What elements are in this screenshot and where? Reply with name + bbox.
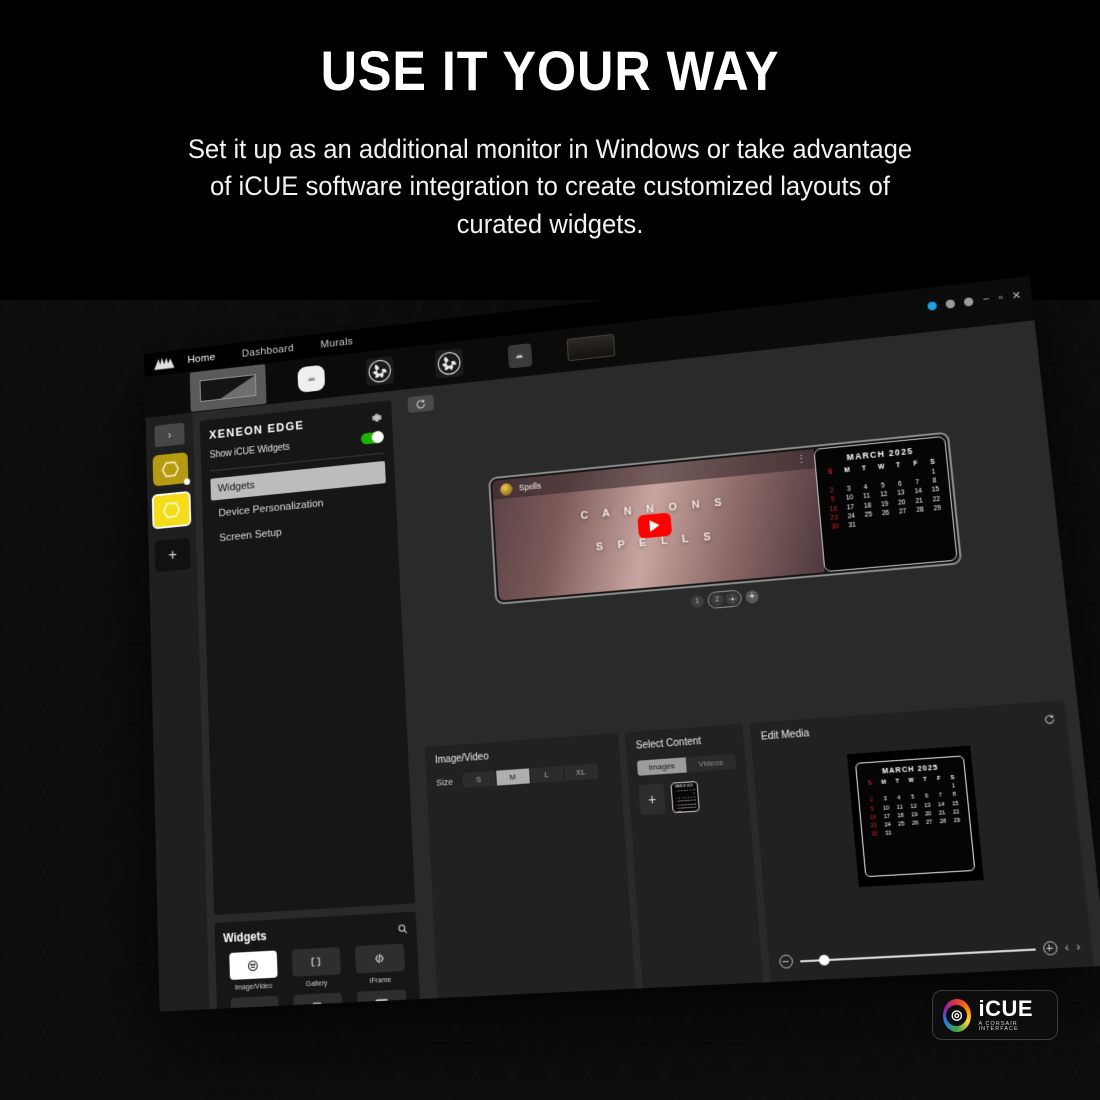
nav-dashboard[interactable]: Dashboard	[242, 343, 295, 360]
calendar-weekday: M	[838, 466, 856, 475]
profile-tile-1[interactable]	[153, 452, 189, 486]
youtube-play-icon[interactable]	[637, 512, 672, 538]
youtube-icon	[356, 989, 406, 1011]
calendar-day: 19	[907, 811, 921, 818]
calendar-weekday: S	[821, 468, 839, 477]
close-button[interactable]: ✕	[1011, 291, 1022, 303]
calendar-day: 6	[891, 480, 909, 489]
calendar-day: 24	[842, 512, 860, 521]
widget-label: iFrame	[369, 975, 391, 985]
page-subtitle: Set it up as an additional monitor in Wi…	[175, 131, 926, 243]
calendar-day: 22	[949, 809, 964, 816]
calendar-day: 26	[908, 820, 922, 827]
icue-text-block: iCUE A CORSAIR INTERFACE	[979, 998, 1047, 1033]
calendar-day: 30	[868, 831, 882, 838]
zoom-slider[interactable]	[800, 948, 1035, 962]
calendar-weekday: F	[932, 775, 946, 782]
size-option-m[interactable]: M	[496, 768, 531, 785]
tab-images[interactable]: Images	[637, 757, 687, 776]
calendar-day: 31	[881, 830, 895, 837]
calendar-day	[856, 474, 874, 483]
size-option-s[interactable]: S	[462, 771, 496, 788]
more-vertical-icon[interactable]: ⋮	[796, 457, 806, 464]
add-page-button[interactable]: +	[745, 590, 759, 604]
calendar-day: 3	[840, 485, 858, 494]
calendar-weekday: W	[904, 777, 918, 784]
widgets-browser-header: Widgets	[223, 921, 408, 945]
calendar-day: 14	[934, 801, 949, 808]
calendar-day: 16	[866, 814, 880, 821]
content-thumbnails-row: + MARCH 2025 SMTWTFS12345678910111213141…	[639, 778, 740, 815]
calendar-day	[878, 518, 896, 527]
calendar-day: 30	[826, 523, 844, 532]
calendar-grid: SMTWTFS123456789101112131415161718192021…	[821, 458, 947, 532]
corsair-logo-icon	[153, 355, 176, 372]
show-widgets-label: Show iCUE Widgets	[210, 442, 290, 460]
widgets-browser: Widgets Image/Video	[214, 911, 427, 1011]
zoom-in-icon[interactable]	[1042, 941, 1058, 956]
calendar-day: 2	[864, 797, 878, 804]
edit-media-canvas[interactable]: MARCH 2025 SMTWTFS1234567891011121314151…	[847, 746, 984, 888]
calendar-day: 29	[950, 817, 965, 824]
calendar-day: 14	[909, 487, 927, 496]
content-thumbnail-calendar[interactable]: MARCH 2025 SMTWTFS1234567891011121314151…	[670, 781, 699, 813]
panel-edit-media: Edit Media MARCH 2025 SMTWTFS12345678910…	[750, 700, 1094, 982]
channel-avatar	[500, 482, 513, 495]
gear-icon[interactable]	[946, 299, 956, 309]
gear-icon[interactable]	[371, 411, 383, 424]
panel-title: Image/Video	[435, 743, 610, 766]
page-1-button[interactable]: 1	[690, 595, 704, 609]
calendar-day	[951, 826, 966, 833]
widget-item-gallery[interactable]: Gallery	[286, 947, 346, 989]
settings-column: XENEON EDGE Show iCUE Widgets Widgets De…	[193, 390, 428, 1009]
reset-icon[interactable]	[408, 395, 434, 413]
calendar-day: 22	[927, 495, 945, 504]
page-2-active[interactable]: 2	[707, 589, 742, 609]
calendar-day	[937, 827, 952, 834]
maximize-button[interactable]: ▫	[998, 293, 1003, 304]
calendar-day: 26	[877, 509, 895, 518]
calendar-weekday: F	[907, 460, 925, 469]
fan-icon	[435, 348, 464, 379]
calendar-day: 3	[878, 796, 892, 803]
calendar-day	[929, 514, 947, 523]
calendar-day	[919, 785, 933, 792]
calendar-day: 9	[865, 806, 879, 813]
calendar-day: 8	[947, 792, 962, 799]
size-option-xl[interactable]: XL	[564, 764, 599, 781]
calendar-day: 10	[841, 494, 859, 503]
icue-ring-icon: ◎	[943, 999, 971, 1032]
icue-app-window: Home Dashboard Murals	[144, 251, 1100, 1011]
widget-label: Gallery	[306, 978, 328, 988]
calendar-day	[905, 786, 919, 793]
calendar-day: 12	[875, 491, 893, 500]
calendar-day: 2	[823, 486, 841, 495]
widget-grid: Image/Video Gallery iFrame	[224, 943, 417, 1011]
page-title: USE IT YOUR WAY	[55, 38, 1045, 103]
profile-status-dot	[184, 478, 190, 485]
widget-item-launch-app[interactable]: Launch App	[225, 995, 284, 1011]
channel-name: Spells	[519, 481, 541, 493]
device-tab-fan-2[interactable]	[425, 345, 473, 381]
image-icon	[229, 950, 277, 980]
calendar-day	[839, 476, 857, 485]
nav-murals[interactable]: Murals	[320, 336, 353, 351]
calendar-day: 4	[857, 483, 875, 492]
calendar-day: 19	[876, 500, 894, 509]
puck-icon	[297, 365, 325, 393]
thumb-day	[694, 809, 697, 812]
rotate-right-icon[interactable]: ›	[1076, 940, 1081, 953]
calendar-day: 23	[825, 514, 843, 523]
calendar-weekday: T	[855, 465, 873, 474]
content-type-tabs: Images Videos	[637, 754, 736, 776]
zoom-out-icon[interactable]	[779, 954, 794, 968]
widget-item-image-video[interactable]: Image/Video	[224, 950, 283, 992]
panel-image-video: Image/Video Size S M L XL	[425, 733, 636, 998]
calendar-weekday: T	[889, 461, 907, 470]
calendar-day: 17	[880, 813, 894, 820]
calendar-day: 12	[906, 803, 920, 810]
icue-ring-inner: ◎	[946, 1005, 967, 1026]
size-control-row: Size S M L XL	[436, 763, 611, 790]
calendar-day	[860, 520, 878, 529]
calendar-day	[890, 471, 908, 480]
calendar-day: 18	[893, 812, 907, 819]
edit-calendar-preview: MARCH 2025 SMTWTFS1234567891011121314151…	[855, 755, 975, 877]
calendar-day: 8	[926, 477, 944, 486]
panel-title: Edit Media	[761, 728, 810, 743]
thumbnail-calendar-grid: SMTWTFS123456789101112131415161718192021…	[674, 788, 697, 813]
chevron-right-icon[interactable]: ›	[154, 423, 184, 448]
page-pager: 1 2 +	[690, 588, 759, 611]
icue-logo-badge: ◎ iCUE A CORSAIR INTERFACE	[932, 990, 1058, 1040]
bottom-panels: Image/Video Size S M L XL Selec	[425, 700, 1094, 998]
calendar-grid: SMTWTFS123456789101112131415161718192021…	[863, 775, 965, 839]
calendar-day: 15	[927, 486, 945, 495]
calendar-day	[932, 784, 946, 791]
calendar-day: 25	[860, 511, 878, 520]
reset-icon[interactable]	[1043, 713, 1056, 728]
device-tab-puck[interactable]	[288, 361, 334, 397]
icue-wordmark: iCUE	[979, 998, 1047, 1020]
calendar-day: 6	[919, 793, 933, 800]
minimize-button[interactable]: −	[982, 294, 990, 305]
calendar-day: 21	[935, 810, 950, 817]
settings-card-spacer	[213, 536, 406, 906]
widgets-browser-title: Widgets	[223, 929, 267, 945]
calendar-day: 28	[936, 818, 951, 825]
calendar-day: 29	[928, 504, 946, 513]
code-icon	[355, 944, 405, 974]
calendar-day	[912, 515, 930, 524]
calendar-weekday: T	[890, 778, 904, 785]
window-controls: − ▫ ✕	[928, 291, 1022, 312]
calendar-day: 27	[922, 819, 937, 826]
app-window-icon	[230, 996, 279, 1012]
calendar-day	[907, 469, 925, 478]
calendar-weekday: S	[863, 780, 877, 787]
calendar-day	[822, 477, 840, 486]
device-tab-wide-device[interactable]	[566, 329, 615, 366]
icue-tagline: A CORSAIR INTERFACE	[979, 1022, 1047, 1033]
calendar-day: 31	[843, 522, 861, 531]
widget-item-iframe[interactable]: iFrame	[349, 943, 410, 986]
notification-icon[interactable]	[928, 301, 938, 311]
calendar-day: 17	[842, 503, 860, 512]
calendar-day	[864, 789, 878, 796]
page-gear-icon[interactable]	[725, 592, 739, 606]
calendar-day	[909, 829, 923, 836]
widget-label: Image/Video	[235, 981, 273, 992]
monitor-icon	[200, 374, 257, 402]
app-body: › + XENEON EDGE	[146, 320, 1100, 1011]
fan-icon	[366, 356, 394, 386]
device-title: XENEON EDGE	[209, 419, 305, 442]
calendar-day	[923, 828, 938, 835]
youtube-widget-preview[interactable]: C A N N O N S S P E L L S Spells ⋮	[492, 449, 824, 601]
calendar-widget-preview[interactable]: MARCH 2025 SMTWTFS1234567891011121314151…	[813, 436, 957, 572]
calendar-day: 5	[906, 794, 920, 801]
calendar-day: 23	[867, 823, 881, 830]
calendar-weekday: T	[918, 776, 932, 783]
wide-device-icon	[567, 334, 616, 362]
calendar-day: 7	[933, 793, 948, 800]
calendar-day	[877, 788, 891, 795]
add-content-button[interactable]: +	[639, 783, 666, 815]
panel-title: Select Content	[635, 734, 734, 752]
xeneon-edge-screen-preview: C A N N O N S S P E L L S Spells ⋮	[488, 432, 962, 605]
size-option-l[interactable]: L	[530, 766, 565, 783]
rotate-left-icon[interactable]: ‹	[1064, 941, 1069, 954]
calendar-day: 11	[893, 804, 907, 811]
square-device-icon	[507, 343, 532, 369]
calendar-day: 27	[894, 508, 912, 517]
zoom-slider-handle[interactable]	[818, 954, 829, 965]
calendar-day: 20	[893, 498, 911, 507]
device-settings-card: XENEON EDGE Show iCUE Widgets Widgets De…	[200, 400, 415, 915]
calendar-day	[891, 787, 905, 794]
device-tab-fan-1[interactable]	[356, 353, 403, 389]
calendar-day: 13	[920, 802, 934, 809]
calendar-day: 5	[874, 482, 892, 491]
calendar-day: 11	[858, 492, 876, 501]
calendar-day: 13	[892, 489, 910, 498]
calendar-weekday: S	[924, 458, 942, 467]
calendar-day: 25	[894, 821, 908, 828]
profile-tile-2[interactable]	[152, 491, 192, 530]
main-content-area: C A N N O N S S P E L L S Spells ⋮	[398, 320, 1100, 998]
size-segmented-control: S M L XL	[462, 764, 599, 788]
twitch-chat-icon	[293, 993, 342, 1012]
calendar-day: 24	[880, 822, 894, 829]
edit-media-controls: ‹ ›	[779, 940, 1081, 969]
tab-videos[interactable]: Videos	[686, 754, 736, 773]
device-tab-xeneon-edge[interactable]	[190, 364, 267, 412]
help-icon[interactable]	[964, 297, 974, 307]
calendar-day	[873, 472, 891, 481]
device-tab-small-device[interactable]	[495, 337, 544, 373]
calendar-weekday: W	[872, 463, 890, 472]
hero-text-block: USE IT YOUR WAY Set it up as an addition…	[0, 38, 1100, 243]
widget-item-twitch-chat[interactable]: Twitch Chat	[288, 992, 348, 1011]
widget-item-youtube-video[interactable]: Youtube Video	[351, 989, 412, 1011]
size-label: Size	[436, 776, 453, 787]
search-icon[interactable]	[397, 923, 408, 935]
calendar-day: 1	[946, 783, 961, 790]
calendar-day: 20	[921, 811, 935, 818]
show-widgets-toggle[interactable]	[361, 431, 384, 444]
calendar-day: 4	[892, 795, 906, 802]
calendar-day: 28	[911, 506, 929, 515]
calendar-day: 9	[824, 496, 842, 505]
add-profile-button[interactable]: +	[155, 538, 191, 573]
page-2-button[interactable]: 2	[710, 593, 724, 607]
calendar-weekday: M	[877, 779, 891, 786]
calendar-day: 1	[925, 467, 943, 476]
calendar-day: 15	[948, 800, 963, 807]
calendar-weekday: S	[945, 775, 960, 782]
device-preview: C A N N O N S S P E L L S Spells ⋮	[412, 423, 1051, 634]
calendar-day	[895, 517, 913, 526]
edit-media-header: Edit Media	[761, 710, 1057, 752]
nav-home[interactable]: Home	[187, 352, 215, 366]
calendar-day: 10	[879, 805, 893, 812]
calendar-day: 7	[908, 478, 926, 487]
calendar-day: 16	[825, 505, 843, 514]
gallery-icon	[291, 947, 340, 977]
calendar-day	[895, 830, 909, 837]
calendar-day: 21	[910, 497, 928, 506]
calendar-day: 18	[859, 502, 877, 511]
panel-select-content: Select Content Images Videos + MARCH 202…	[625, 724, 763, 988]
